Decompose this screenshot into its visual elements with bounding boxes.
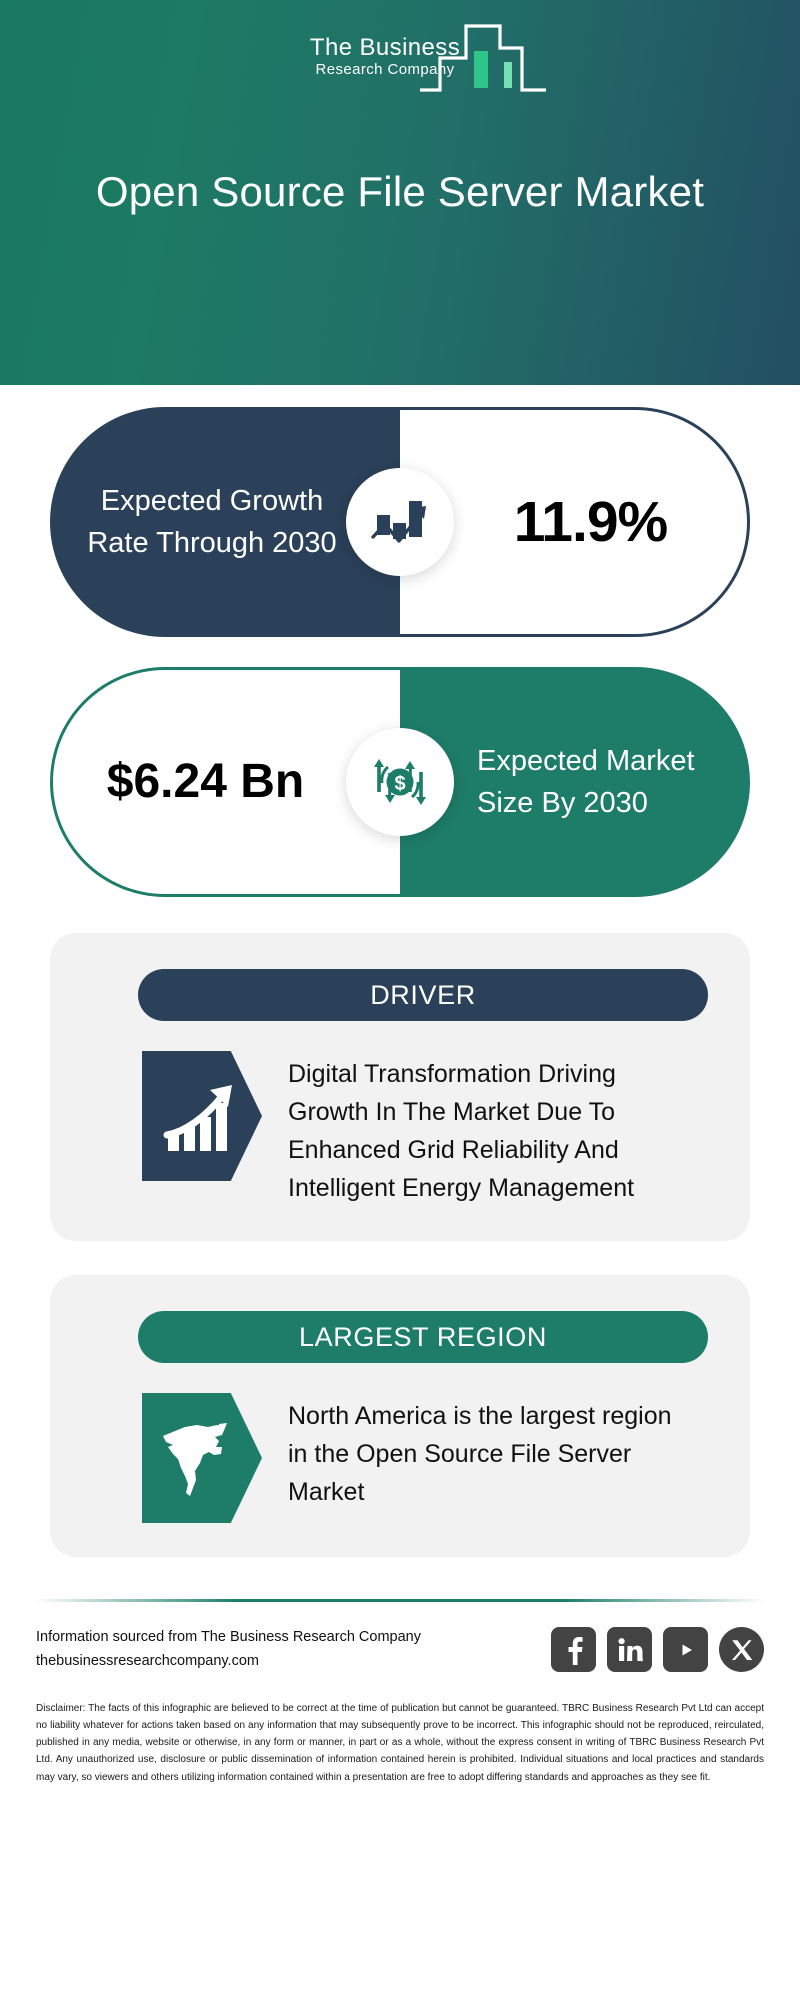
youtube-icon[interactable]: [663, 1627, 708, 1672]
expected-growth-rate-card: Expected Growth Rate Through 2030 11.9%: [50, 407, 750, 637]
logo: The Business Research Company: [0, 18, 800, 98]
driver-heading-pill: DRIVER: [138, 969, 708, 1021]
bar-chart-logo-icon: [418, 18, 548, 98]
driver-text: Digital Transformation Driving Growth In…: [262, 1051, 682, 1207]
driver-section: DRIVER Digital Transformation Driving Gr…: [50, 933, 750, 1241]
expected-market-size-card: $6.24 Bn Expected Market Size By 2030 $: [50, 667, 750, 897]
driver-body: Digital Transformation Driving Growth In…: [50, 1051, 750, 1207]
source-line-1: Information sourced from The Business Re…: [36, 1626, 421, 1650]
social-links: ®: [551, 1627, 764, 1672]
driver-icon-hex: [142, 1051, 262, 1181]
linkedin-icon[interactable]: ®: [607, 1627, 652, 1672]
rising-bar-chart-arrow-icon: [162, 1077, 242, 1155]
growth-badge: [346, 468, 454, 576]
region-body: North America is the largest region in t…: [50, 1393, 750, 1523]
source-link[interactable]: thebusinessresearchcompany.com: [36, 1650, 421, 1674]
market-size-badge: $: [346, 728, 454, 836]
header-banner: The Business Research Company Open Sourc…: [0, 0, 800, 385]
disclaimer-text: Disclaimer: The facts of this infographi…: [20, 1700, 780, 1786]
driver-heading: DRIVER: [370, 980, 476, 1011]
footer-divider: [35, 1599, 765, 1602]
growth-value: 11.9%: [480, 489, 667, 555]
svg-text:$: $: [394, 773, 405, 795]
svg-text:®: ®: [641, 1657, 643, 1663]
page-title: Open Source File Server Market: [60, 165, 740, 219]
region-heading: LARGEST REGION: [299, 1322, 547, 1353]
source-text: Information sourced from The Business Re…: [36, 1626, 421, 1674]
region-heading-pill: LARGEST REGION: [138, 1311, 708, 1363]
growth-label: Expected Growth Rate Through 2030: [75, 480, 375, 564]
footer-row: Information sourced from The Business Re…: [20, 1626, 780, 1674]
market-size-label: Expected Market Size By 2030: [435, 740, 715, 824]
market-size-value: $6.24 Bn: [107, 751, 346, 812]
region-icon-hex: [142, 1393, 262, 1523]
dollar-cycle-icon: $: [368, 751, 432, 813]
facebook-icon[interactable]: [551, 1627, 596, 1672]
x-twitter-icon[interactable]: [719, 1627, 764, 1672]
region-text: North America is the largest region in t…: [262, 1393, 682, 1511]
north-america-map-icon: [159, 1414, 245, 1502]
largest-region-section: LARGEST REGION North America is the larg…: [50, 1275, 750, 1557]
growth-bar-arrow-icon: [369, 493, 431, 551]
